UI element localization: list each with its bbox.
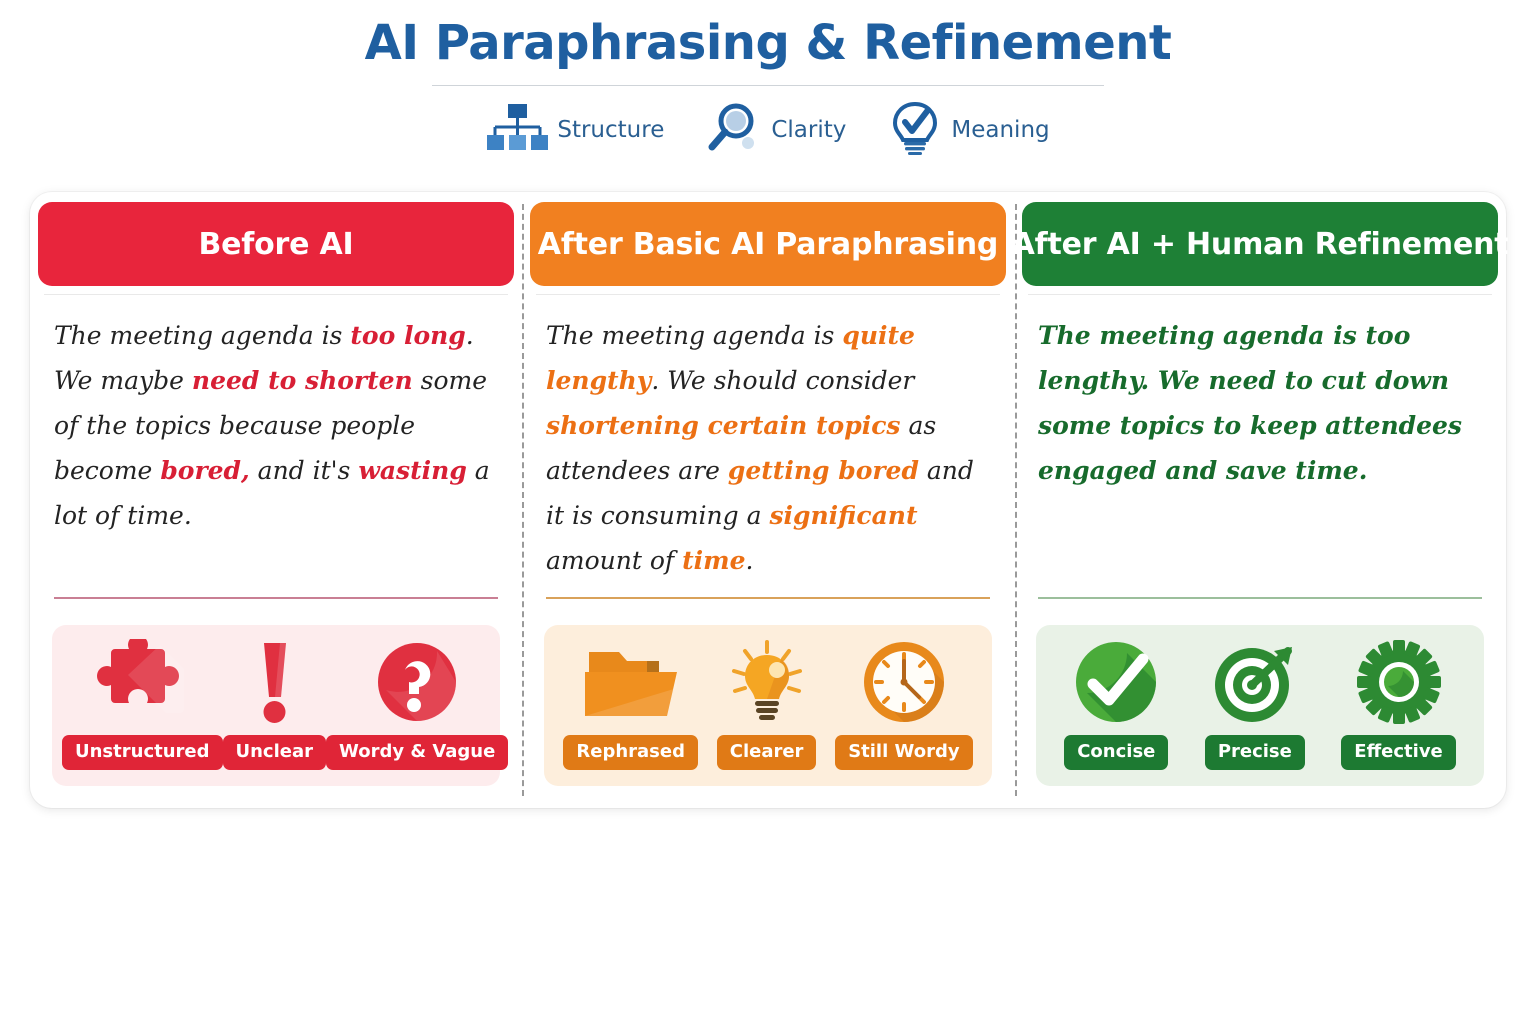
highlighted-phrase: getting bored xyxy=(728,456,919,485)
column-header-after-basic-ai: After Basic AI Paraphrasing xyxy=(530,202,1006,286)
question-mark-circle-icon xyxy=(374,639,460,725)
quote-text-before-ai: The meeting agenda is too long. We maybe… xyxy=(54,313,498,538)
highlighted-phrase: too long xyxy=(350,321,465,350)
plain-phrase: and it's xyxy=(250,456,359,485)
legend-label-meaning: Meaning xyxy=(951,119,1049,142)
lightbulb-check-icon xyxy=(888,101,942,160)
infographic-page: AI Paraphrasing & Refinement Structure xyxy=(0,0,1536,1024)
column-before-ai: Before AI The meeting agenda is too long… xyxy=(30,192,522,808)
plain-phrase: The meeting agenda is too lengthy. We ne… xyxy=(1038,321,1462,485)
tag-label-concise: Concise xyxy=(1064,735,1168,770)
highlighted-phrase: significant xyxy=(769,501,917,530)
folder-icon xyxy=(581,639,681,725)
plain-phrase: The meeting agenda is xyxy=(54,321,350,350)
strip-item-still-wordy[interactable]: Still Wordy xyxy=(835,639,972,770)
clock-icon xyxy=(861,639,947,725)
legend-item-meaning: Meaning xyxy=(888,101,1049,160)
column-body-after-ai-human: The meeting agenda is too lengthy. We ne… xyxy=(1014,295,1506,597)
body-separator-after-basic-ai xyxy=(546,597,990,599)
strip-item-unstructured[interactable]: Unstructured xyxy=(62,639,223,770)
tag-label-clearer: Clearer xyxy=(717,735,817,770)
plain-phrase: . We should consider xyxy=(651,366,914,395)
column-header-before-ai: Before AI xyxy=(38,202,514,286)
plain-phrase: The meeting agenda is xyxy=(546,321,842,350)
check-circle-icon xyxy=(1073,639,1159,725)
legend: Structure Clarity xyxy=(0,101,1536,160)
plain-phrase: amount of xyxy=(546,546,682,575)
lightbulb-icon xyxy=(724,639,810,725)
page-title: AI Paraphrasing & Refinement xyxy=(0,16,1536,71)
tag-label-wordy-vague: Wordy & Vague xyxy=(326,735,508,770)
legend-item-structure: Structure xyxy=(486,102,664,159)
title-divider xyxy=(432,85,1104,86)
legend-label-structure: Structure xyxy=(557,119,664,142)
body-separator-before-ai xyxy=(54,597,498,599)
column-body-before-ai: The meeting agenda is too long. We maybe… xyxy=(30,295,522,597)
highlighted-phrase: time xyxy=(682,546,745,575)
highlighted-phrase: need to shorten xyxy=(192,366,413,395)
strip-item-effective[interactable]: Effective xyxy=(1341,639,1455,770)
magnifier-icon xyxy=(706,102,762,159)
tag-label-effective: Effective xyxy=(1341,735,1455,770)
tag-strip-after-basic-ai: Rephrased xyxy=(544,625,992,786)
strip-item-clearer[interactable]: Clearer xyxy=(717,639,817,770)
column-header-after-ai-human: After AI + Human Refinement xyxy=(1022,202,1498,286)
body-separator-after-ai-human xyxy=(1038,597,1482,599)
tag-label-unclear: Unclear xyxy=(223,735,327,770)
highlighted-phrase: bored, xyxy=(160,456,249,485)
org-chart-icon xyxy=(486,102,548,159)
plain-phrase: . xyxy=(746,546,754,575)
legend-item-clarity: Clarity xyxy=(706,102,846,159)
column-body-after-basic-ai: The meeting agenda is quite lengthy. We … xyxy=(522,295,1014,597)
tag-strip-after-ai-human: Concise Precise xyxy=(1036,625,1484,786)
column-after-basic-ai: After Basic AI Paraphrasing The meeting … xyxy=(522,192,1014,808)
strip-item-precise[interactable]: Precise xyxy=(1205,639,1305,770)
comparison-board: Before AI The meeting agenda is too long… xyxy=(30,192,1506,808)
strip-item-concise[interactable]: Concise xyxy=(1064,639,1168,770)
strip-item-unclear[interactable]: Unclear xyxy=(223,639,327,770)
tag-label-unstructured: Unstructured xyxy=(62,735,223,770)
page-header: AI Paraphrasing & Refinement Structure xyxy=(0,0,1536,160)
quote-text-after-basic-ai: The meeting agenda is quite lengthy. We … xyxy=(546,313,990,583)
highlighted-phrase: shortening certain topics xyxy=(546,411,901,440)
puzzle-piece-icon xyxy=(94,639,190,725)
quote-text-after-ai-human: The meeting agenda is too lengthy. We ne… xyxy=(1038,313,1482,493)
tag-label-still-wordy: Still Wordy xyxy=(835,735,972,770)
tag-label-rephrased: Rephrased xyxy=(563,735,698,770)
target-dart-icon xyxy=(1210,639,1300,725)
gear-icon xyxy=(1355,639,1443,725)
column-after-ai-human: After AI + Human Refinement The meeting … xyxy=(1014,192,1506,808)
exclamation-mark-icon xyxy=(248,639,300,725)
tag-strip-before-ai: Unstructured Unclear xyxy=(52,625,500,786)
strip-item-rephrased[interactable]: Rephrased xyxy=(563,639,698,770)
legend-label-clarity: Clarity xyxy=(771,119,846,142)
highlighted-phrase: wasting xyxy=(358,456,467,485)
strip-item-wordy-vague[interactable]: Wordy & Vague xyxy=(326,639,508,770)
tag-label-precise: Precise xyxy=(1205,735,1305,770)
